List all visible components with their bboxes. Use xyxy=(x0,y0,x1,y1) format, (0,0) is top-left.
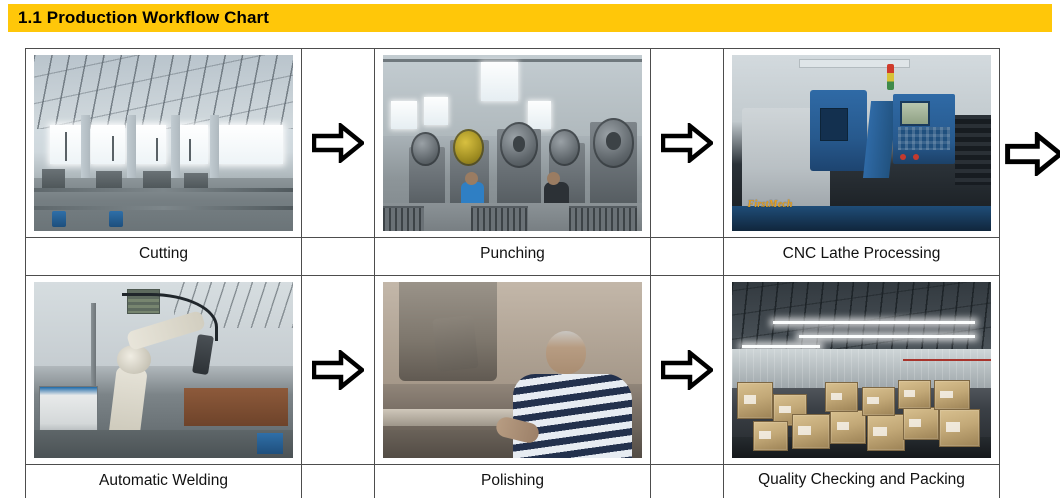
step-caption: Polishing xyxy=(375,465,650,491)
section-header-bar: 1.1 Production Workflow Chart xyxy=(8,4,1052,32)
cell-arrow-4 xyxy=(651,276,724,465)
step-caption: Quality Checking and Packing xyxy=(724,465,999,490)
cell-arrow-3 xyxy=(302,276,375,465)
table-row-captions-1: Cutting Punching CNC Lathe Processing xyxy=(26,238,1000,276)
arrow-right-icon xyxy=(661,350,713,390)
cell-photo-welding xyxy=(26,276,302,465)
trailing-arrow-container xyxy=(1004,132,1060,176)
photo-punch-press-machines xyxy=(383,55,642,231)
cell-caption-spacer-4 xyxy=(651,465,724,498)
photo-factory-cutting-workshop xyxy=(34,55,293,231)
cell-photo-quality-packing xyxy=(724,276,1000,465)
cell-arrow-2 xyxy=(651,49,724,238)
step-caption: Cutting xyxy=(26,238,301,264)
step-caption: CNC Lathe Processing xyxy=(724,238,999,264)
workflow-table: FirstMech Cutting Punching CNC Lathe Pro… xyxy=(25,48,1000,498)
page-title: 1.1 Production Workflow Chart xyxy=(8,8,269,28)
cell-caption-cnc-lathe: CNC Lathe Processing xyxy=(724,238,1000,276)
cell-caption-punching: Punching xyxy=(375,238,651,276)
cell-caption-spacer-2 xyxy=(651,238,724,276)
cell-photo-cnc-lathe: FirstMech xyxy=(724,49,1000,238)
cnc-brand-logo: FirstMech xyxy=(748,199,793,210)
arrow-right-icon xyxy=(1004,132,1060,176)
cell-caption-polishing: Polishing xyxy=(375,465,651,498)
cell-photo-cutting xyxy=(26,49,302,238)
cell-caption-spacer-3 xyxy=(302,465,375,498)
table-row-photos-1: FirstMech xyxy=(26,49,1000,238)
arrow-right-icon xyxy=(312,350,364,390)
cell-caption-cutting: Cutting xyxy=(26,238,302,276)
photo-worker-polishing-part xyxy=(383,282,642,458)
photo-cnc-lathe-machine: FirstMech xyxy=(732,55,991,231)
step-caption: Automatic Welding xyxy=(26,465,301,491)
table-row-captions-2: Automatic Welding Polishing Quality Chec… xyxy=(26,465,1000,498)
cell-photo-polishing xyxy=(375,276,651,465)
cell-caption-quality-packing: Quality Checking and Packing xyxy=(724,465,1000,498)
production-workflow-page: 1.1 Production Workflow Chart xyxy=(0,0,1060,498)
cell-arrow-1 xyxy=(302,49,375,238)
cell-caption-welding: Automatic Welding xyxy=(26,465,302,498)
cell-photo-punching xyxy=(375,49,651,238)
photo-warehouse-packed-cartons xyxy=(732,282,991,458)
arrow-right-icon xyxy=(312,123,364,163)
photo-welding-robot-arm xyxy=(34,282,293,458)
step-caption: Punching xyxy=(375,238,650,264)
table-row-photos-2 xyxy=(26,276,1000,465)
arrow-right-icon xyxy=(661,123,713,163)
cell-caption-spacer-1 xyxy=(302,238,375,276)
